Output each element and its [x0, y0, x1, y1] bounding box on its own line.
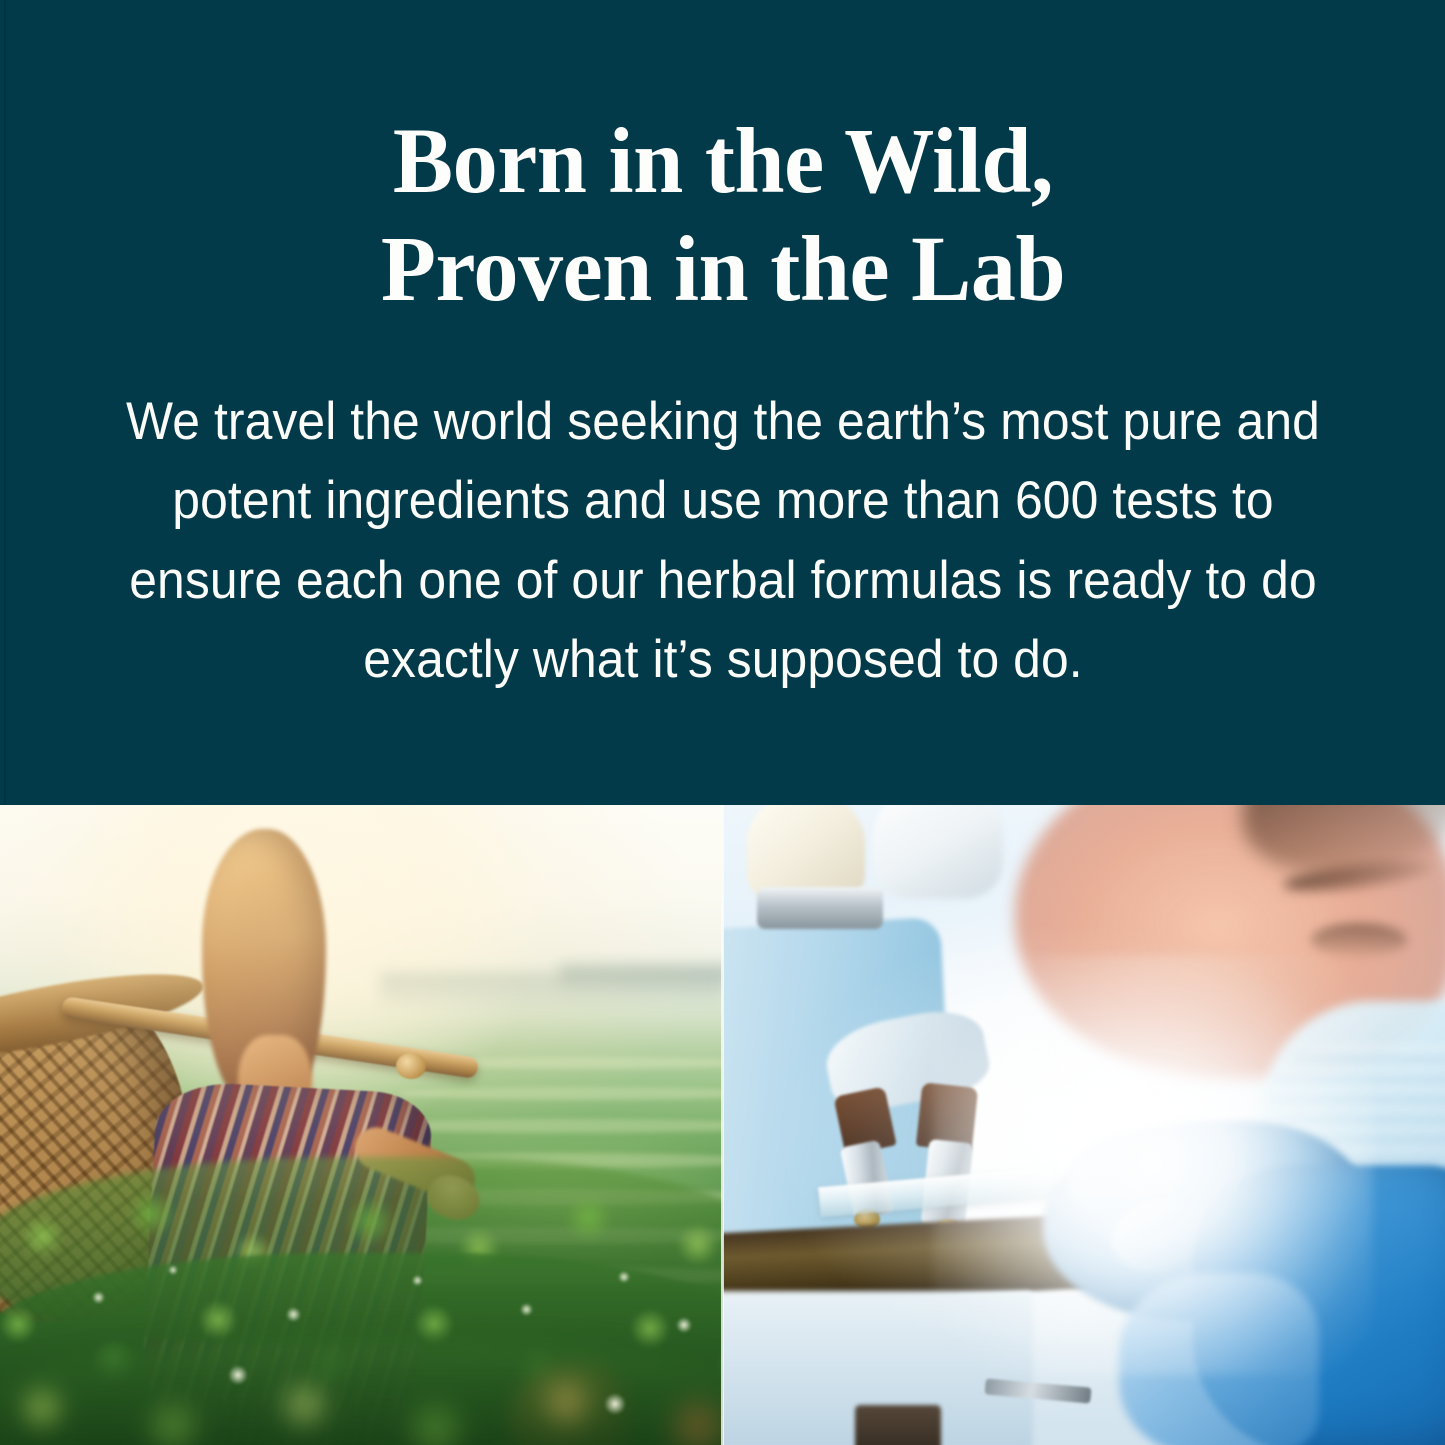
- pole-end-cap: [396, 1053, 426, 1079]
- brand-value-banner: Born in the Wild, Proven in the Lab We t…: [0, 0, 1445, 1445]
- dew-highlight: [604, 1393, 626, 1415]
- eyepiece-chrome-ring: [757, 887, 883, 929]
- technician-eye: [1311, 923, 1407, 957]
- dew-highlight: [168, 1265, 178, 1275]
- body-copy: We travel the world seeking the earth’s …: [116, 382, 1329, 700]
- text-panel: Born in the Wild, Proven in the Lab We t…: [0, 0, 1445, 805]
- gloved-hand-lower: [1119, 1273, 1319, 1445]
- lab-photo: [723, 805, 1445, 1445]
- dew-highlight: [520, 1303, 533, 1316]
- dew-highlight: [676, 1317, 692, 1333]
- dew-highlight: [228, 1365, 248, 1385]
- terrace-row: [398, 1087, 723, 1100]
- tea-bushes-bokeh: [0, 1339, 723, 1445]
- base-foot: [855, 1405, 941, 1445]
- microscope-eyepiece-2: [873, 805, 1003, 899]
- dew-highlight: [92, 1291, 105, 1304]
- photo-divider: [721, 805, 724, 1445]
- harvest-photo: [0, 805, 723, 1445]
- page-title: Born in the Wild, Proven in the Lab: [189, 108, 1256, 324]
- dew-highlight: [618, 1271, 630, 1283]
- dew-highlight: [286, 1307, 301, 1322]
- dew-highlight: [412, 1275, 423, 1286]
- distant-treeline-far: [560, 965, 723, 993]
